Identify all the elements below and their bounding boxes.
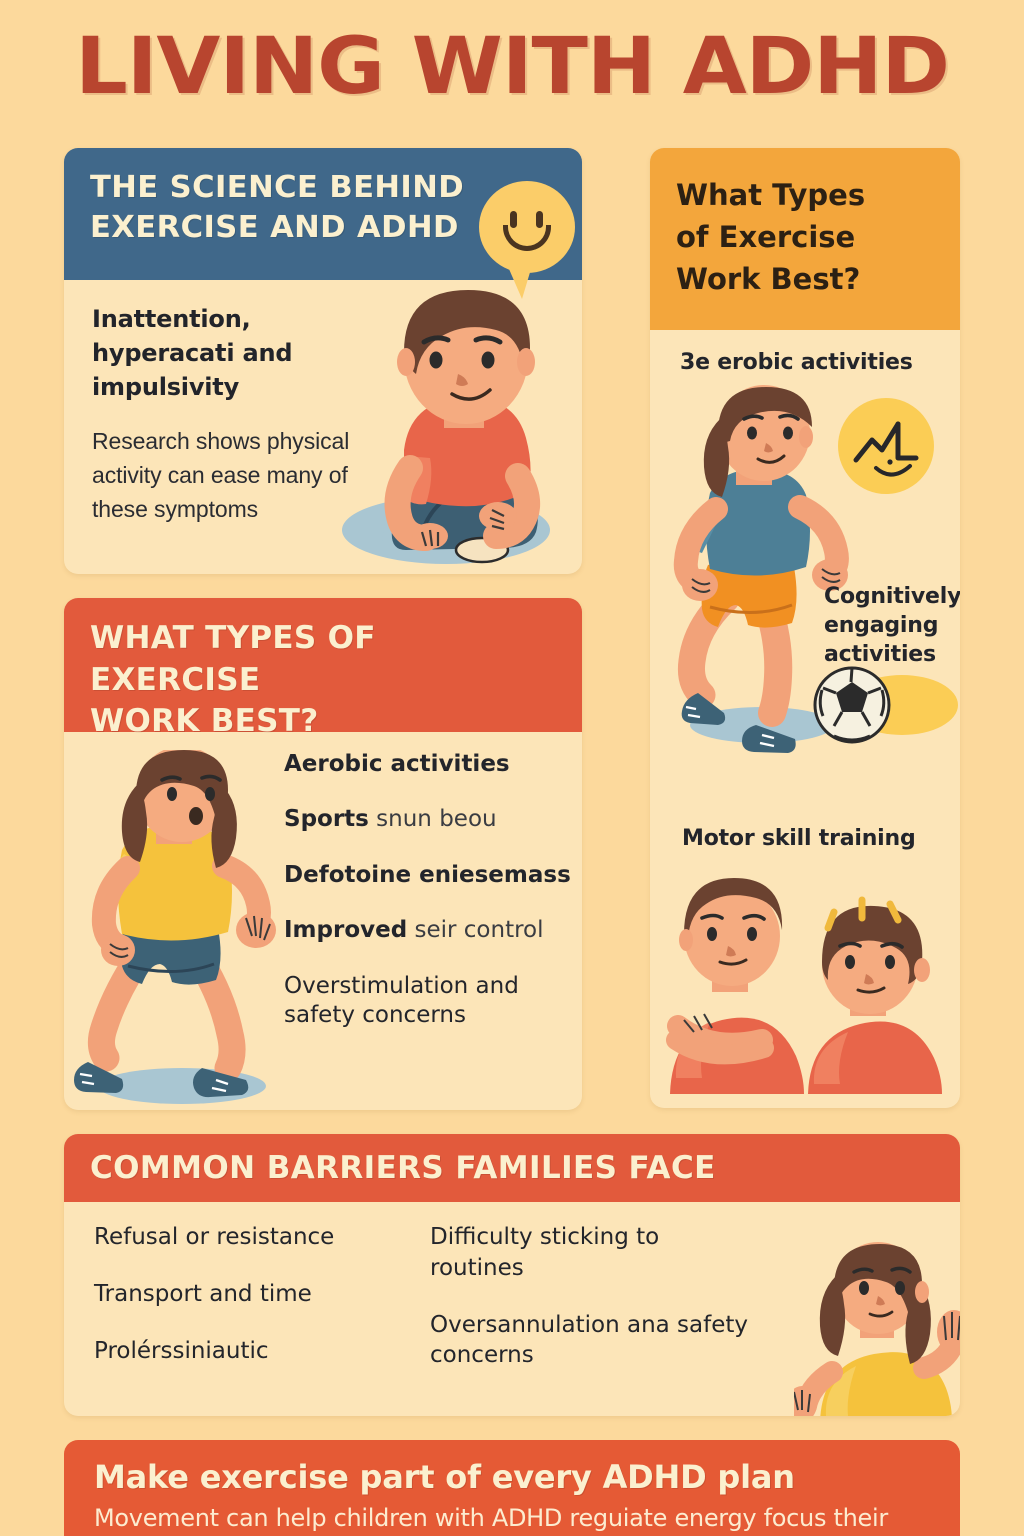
exercise-types-left-body: Aerobic activities Sports snun beou Defo… bbox=[64, 732, 582, 1110]
list-item-main: Defotoine eniesemass bbox=[284, 862, 571, 888]
list-item: Sports snun beou bbox=[284, 805, 574, 834]
soccer-ball-icon bbox=[810, 660, 960, 750]
list-item: Transport and time bbox=[94, 1279, 414, 1310]
motor-skill-training-label: Motor skill training bbox=[682, 824, 916, 853]
list-item: Oversannulation ana safety concerns bbox=[430, 1310, 750, 1372]
list-item-main: Improved bbox=[284, 917, 407, 943]
footer-banner: Make exercise part of every ADHD plan Mo… bbox=[64, 1440, 960, 1536]
common-barriers-card: COMMON BARRIERS FAMILIES FACE Refusal or… bbox=[64, 1134, 960, 1416]
list-item: Aerobic activities bbox=[284, 750, 574, 779]
walking-girl-illustration bbox=[70, 750, 300, 1110]
footer-title: Make exercise part of every ADHD plan bbox=[94, 1458, 930, 1496]
footer-subtitle: Movement can help children with ADHD reg… bbox=[94, 1504, 930, 1532]
aerobic-activities-label: 3e erobic activities bbox=[680, 348, 913, 377]
list-item-main: Aerobic activities bbox=[284, 751, 510, 777]
list-item: Refusal or resistance bbox=[94, 1222, 414, 1253]
science-card-body: Inattention, hyperacati and impulsivity … bbox=[64, 280, 582, 574]
list-item: Difficulty sticking to routines bbox=[430, 1222, 750, 1284]
list-item: Prolérssiniautic bbox=[94, 1336, 414, 1367]
exercise-types-right-header: What Types of Exercise Work Best? bbox=[650, 148, 960, 330]
right-header-line-3: Work Best? bbox=[676, 258, 934, 300]
list-item-main: Overstimulation and safety concerns bbox=[284, 973, 519, 1028]
barriers-column-right: Difficulty sticking to routines Oversann… bbox=[430, 1222, 750, 1397]
cognitively-engaging-activities-label: Cognitively, engaging activities bbox=[824, 582, 954, 669]
smiley-speech-bubble-icon bbox=[479, 181, 575, 273]
exercise-types-left-header: WHAT TYPES OF EXERCISE WORK BEST? bbox=[64, 598, 582, 732]
activity-chart-badge-icon bbox=[832, 392, 940, 500]
list-item: Overstimulation and safety concerns bbox=[284, 972, 574, 1031]
list-item-rest: seir control bbox=[407, 917, 543, 943]
common-barriers-body: Refusal or resistance Transport and time… bbox=[64, 1202, 960, 1416]
science-card: THE SCIENCE BEHIND EXERCISE AND ADHD Ina… bbox=[64, 148, 582, 574]
list-item: Defotoine eniesemass bbox=[284, 861, 574, 890]
exercise-types-list: Aerobic activities Sports snun beou Defo… bbox=[284, 750, 574, 1031]
common-barriers-header: COMMON BARRIERS FAMILIES FACE bbox=[64, 1134, 960, 1202]
list-item: Improved seir control bbox=[284, 916, 574, 945]
sitting-boy-illustration bbox=[326, 280, 582, 574]
exercise-types-right-body: 3e erobic activities bbox=[650, 330, 960, 1108]
list-item-main: Sports bbox=[284, 806, 369, 832]
two-boys-illustration bbox=[650, 864, 960, 1094]
exercise-types-left-card: WHAT TYPES OF EXERCISE WORK BEST? bbox=[64, 598, 582, 1110]
right-header-line-1: What Types bbox=[676, 174, 934, 216]
waving-woman-illustration bbox=[794, 1236, 960, 1416]
left-header-line-1: WHAT TYPES OF EXERCISE bbox=[90, 618, 556, 701]
exercise-types-right-card: What Types of Exercise Work Best? 3e ero… bbox=[650, 148, 960, 1108]
page-title: LIVING WITH ADHD bbox=[0, 22, 1024, 112]
right-header-line-2: of Exercise bbox=[676, 216, 934, 258]
list-item-rest: snun beou bbox=[369, 806, 497, 832]
smiley-mouth-icon bbox=[503, 225, 551, 251]
barriers-column-left: Refusal or resistance Transport and time… bbox=[94, 1222, 414, 1392]
